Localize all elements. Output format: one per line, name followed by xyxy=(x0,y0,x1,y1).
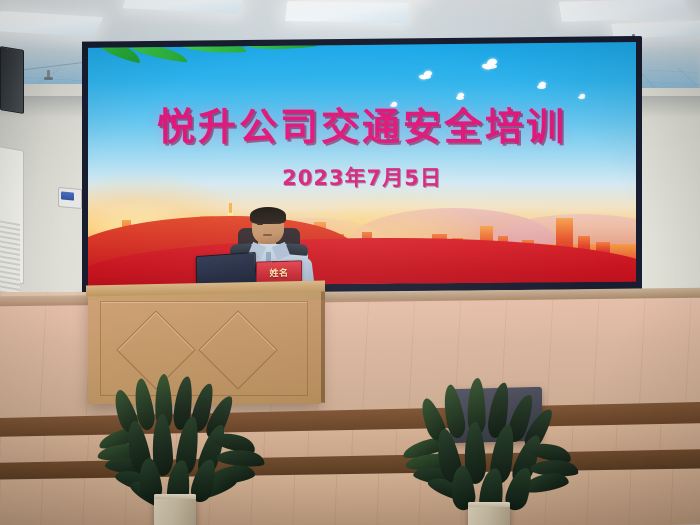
potted-plant-right xyxy=(404,378,594,525)
photo-scene: 悦升公司交通安全培训 2023年7月5日 姓名 xyxy=(0,0,700,525)
ceiling-light-panel xyxy=(0,11,103,37)
mouth xyxy=(263,234,272,236)
potted-plant-left xyxy=(98,372,284,525)
ceiling-light-panel xyxy=(285,1,409,23)
control-panel-display xyxy=(61,191,74,200)
slide-date: 2023年7月5日 xyxy=(88,162,636,192)
eye-right xyxy=(272,222,278,224)
wall-speaker xyxy=(0,46,24,114)
sprinkler-head-icon xyxy=(47,70,50,79)
ceiling-light-panel xyxy=(122,0,244,14)
pot-rim xyxy=(154,494,196,499)
led-screen-display: 悦升公司交通安全培训 2023年7月5日 xyxy=(88,42,636,286)
plant-pot xyxy=(154,494,196,525)
slide-title: 悦升公司交通安全培训 xyxy=(88,96,636,151)
city-skyline-graphic xyxy=(88,206,636,286)
ceiling-light-panel xyxy=(611,20,700,39)
nameplate-text: 姓名 xyxy=(257,265,301,279)
hair xyxy=(250,207,286,224)
plant-pot xyxy=(468,502,510,525)
eye-left xyxy=(257,223,263,225)
ceiling-light-panel xyxy=(559,0,688,22)
pot-rim xyxy=(468,502,510,507)
